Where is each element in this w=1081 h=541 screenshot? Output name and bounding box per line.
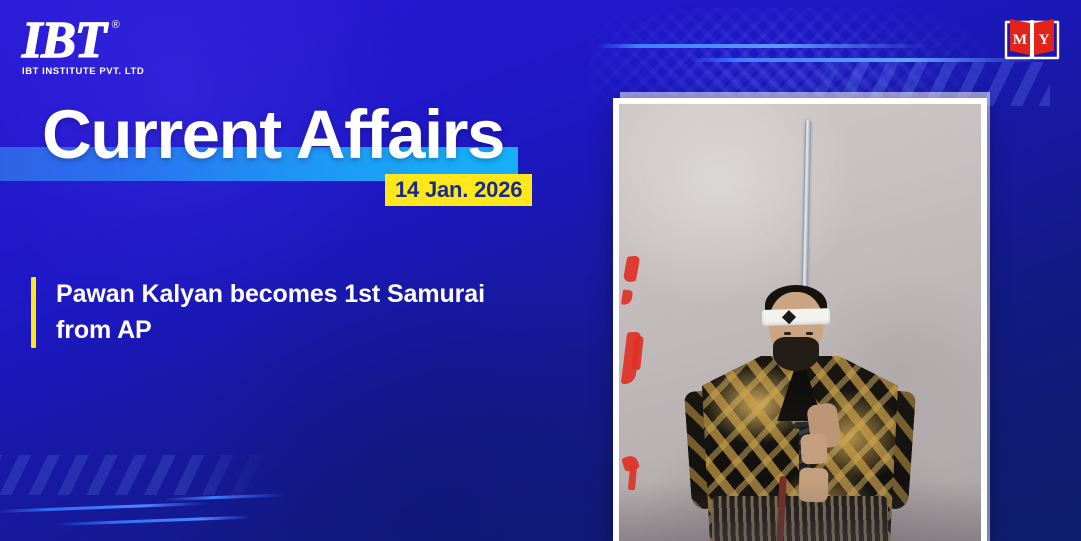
decorative-line-bottom-1	[0, 502, 206, 513]
photo-card	[613, 98, 987, 541]
my-logo-letter-y: Y	[1039, 32, 1050, 48]
photo-floor-shadow	[619, 481, 981, 541]
my-book-logo: M Y	[1003, 14, 1061, 64]
samurai-figure	[619, 104, 981, 541]
hachimaki-headband	[762, 308, 830, 326]
news-photo	[619, 104, 981, 541]
ibt-logo-text: IBT	[22, 12, 106, 69]
hand-upper	[801, 433, 829, 464]
decorative-line-top-1	[597, 44, 929, 48]
news-headline: Pawan Kalyan becomes 1st Samurai from AP	[31, 277, 531, 348]
headline-text: Pawan Kalyan becomes 1st Samurai from AP	[36, 277, 531, 348]
diagonal-stripes-bottom-left	[0, 455, 270, 495]
registered-trademark-icon: ®	[112, 20, 119, 30]
date-badge: 14 Jan. 2026	[385, 174, 532, 206]
ibt-logo-mark: IBT ®	[22, 16, 106, 65]
current-affairs-banner: IBT ® IBT INSTITUTE PVT. LTD M Y Current…	[0, 0, 1081, 541]
ibt-logo: IBT ® IBT INSTITUTE PVT. LTD	[22, 16, 197, 77]
page-title: Current Affairs	[42, 100, 504, 169]
eye-left	[784, 332, 791, 335]
decorative-line-bottom-3	[165, 493, 285, 501]
decorative-line-bottom-2	[55, 516, 250, 526]
my-logo-letter-m: M	[1013, 32, 1027, 48]
decorative-line-top-2	[690, 58, 1041, 62]
headband-emblem-icon	[782, 310, 796, 324]
open-book-icon: M Y	[1003, 14, 1061, 64]
eye-right	[806, 332, 813, 335]
